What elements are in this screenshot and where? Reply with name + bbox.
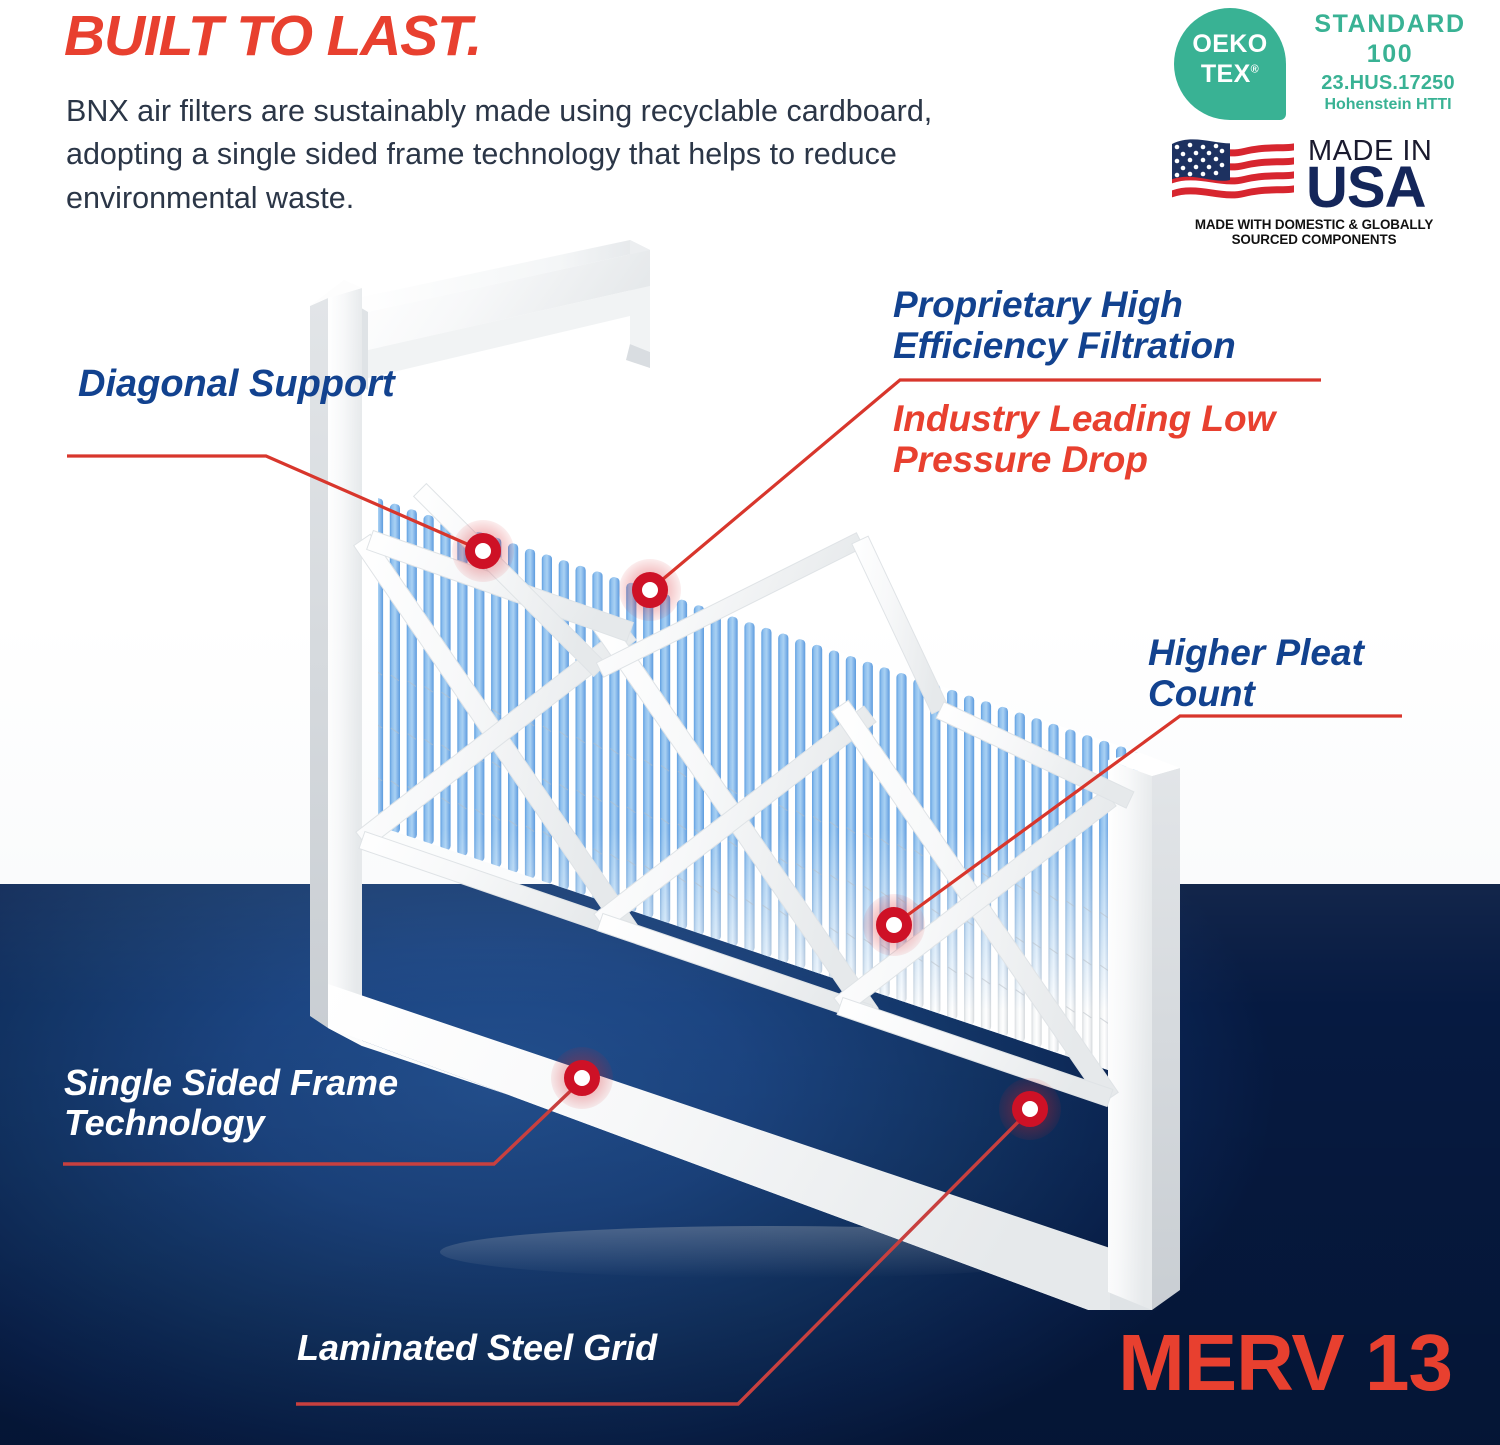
- callout-single-sided-frame: Single Sided Frame Technology: [64, 1063, 484, 1144]
- page-title: BUILT TO LAST.: [64, 8, 481, 65]
- oeko-institute-label: Hohenstein HTTI: [1288, 96, 1488, 114]
- marker-diagonal-support[interactable]: [452, 520, 514, 582]
- marker-ring-icon: [1012, 1091, 1048, 1127]
- marker-pleat-count[interactable]: [863, 894, 925, 956]
- marker-ring-icon: [564, 1060, 600, 1096]
- callout-low-pressure-drop: Industry Leading Low Pressure Drop: [893, 398, 1323, 481]
- callout-proprietary-filtration: Proprietary High Efficiency Filtration: [893, 284, 1313, 367]
- oeko-tex-badge: OEKO TEX®: [1174, 8, 1286, 120]
- callout-laminated-steel-grid: Laminated Steel Grid: [297, 1328, 757, 1368]
- marker-single-sided-frame[interactable]: [551, 1047, 613, 1109]
- infographic-canvas: BUILT TO LAST. BNX air filters are susta…: [0, 0, 1500, 1445]
- marker-filtration[interactable]: [619, 559, 681, 621]
- page-description: BNX air filters are sustainably made usi…: [66, 90, 936, 220]
- merv-rating: MERV 13: [1118, 1323, 1452, 1403]
- frame-right-rail: [1108, 752, 1180, 1310]
- marker-ring-icon: [465, 533, 501, 569]
- usa-flag-icon: [1168, 134, 1296, 211]
- marker-ring-icon: [632, 572, 668, 608]
- callout-higher-pleat-count: Higher Pleat Count: [1148, 632, 1478, 715]
- marker-steel-grid[interactable]: [999, 1078, 1061, 1140]
- oeko-certificate-number: 23.HUS.17250: [1288, 72, 1488, 95]
- marker-ring-icon: [876, 907, 912, 943]
- made-in-usa-badge: MADE IN USA MADE WITH DOMESTIC & GLOBALL…: [1168, 133, 1458, 233]
- oeko-label-line1: OEKO: [1174, 32, 1286, 57]
- callout-diagonal-support: Diagonal Support: [78, 363, 408, 406]
- usa-label: USA: [1306, 159, 1425, 217]
- oeko-label-line2: TEX®: [1174, 62, 1286, 87]
- oeko-standard-label: STANDARD 100: [1290, 10, 1490, 69]
